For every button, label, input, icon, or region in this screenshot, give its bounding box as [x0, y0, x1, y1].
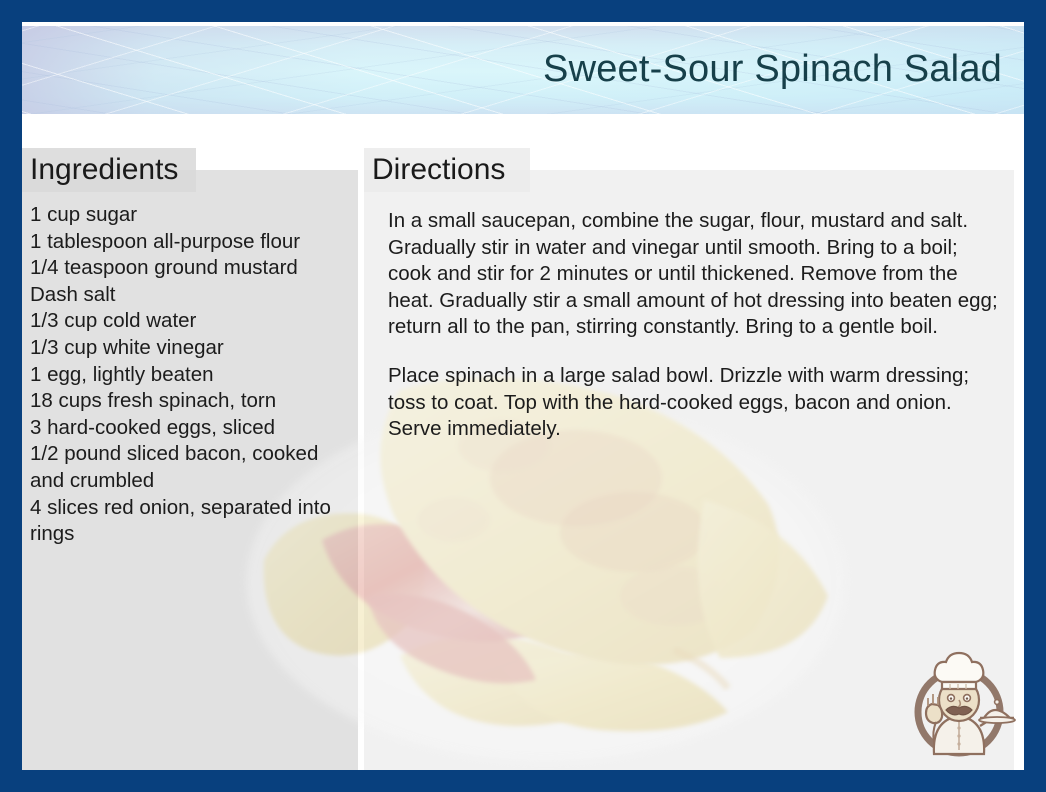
ingredient-item: 4 slices red onion, separated into rings — [30, 495, 348, 548]
ingredient-item: 1/3 cup cold water — [30, 308, 348, 335]
ingredient-item: 1 cup sugar — [30, 202, 348, 229]
chef-mascot-logo — [898, 644, 1020, 766]
ingredients-list: 1 cup sugar1 tablespoon all-purpose flou… — [22, 188, 358, 548]
recipe-slide: Sweet-Sour Spinach Salad — [0, 0, 1046, 792]
ingredient-item: 1/3 cup white vinegar — [30, 335, 348, 362]
ingredient-item: 1/4 teaspoon ground mustard — [30, 255, 348, 282]
ingredient-item: 3 hard-cooked eggs, sliced — [30, 415, 348, 442]
slide-page: Sweet-Sour Spinach Salad — [22, 22, 1024, 770]
ingredient-item: 1 egg, lightly beaten — [30, 362, 348, 389]
page-title: Sweet-Sour Spinach Salad — [543, 49, 1002, 91]
directions-heading: Directions — [372, 155, 505, 185]
direction-paragraph: Place spinach in a large salad bowl. Dri… — [388, 363, 1000, 443]
ingredient-item: 1/2 pound sliced bacon, cooked and crumb… — [30, 441, 348, 494]
ingredient-item: 1 tablespoon all-purpose flour — [30, 229, 348, 256]
ingredients-heading: Ingredients — [30, 155, 178, 185]
directions-text: In a small saucepan, combine the sugar, … — [364, 188, 1024, 443]
ingredient-item: 18 cups fresh spinach, torn — [30, 388, 348, 415]
title-band: Sweet-Sour Spinach Salad — [22, 26, 1024, 114]
ingredient-item: Dash salt — [30, 282, 348, 309]
tab-ingredients: Ingredients — [22, 148, 196, 192]
direction-paragraph: In a small saucepan, combine the sugar, … — [388, 208, 1000, 341]
tab-directions: Directions — [364, 148, 530, 192]
